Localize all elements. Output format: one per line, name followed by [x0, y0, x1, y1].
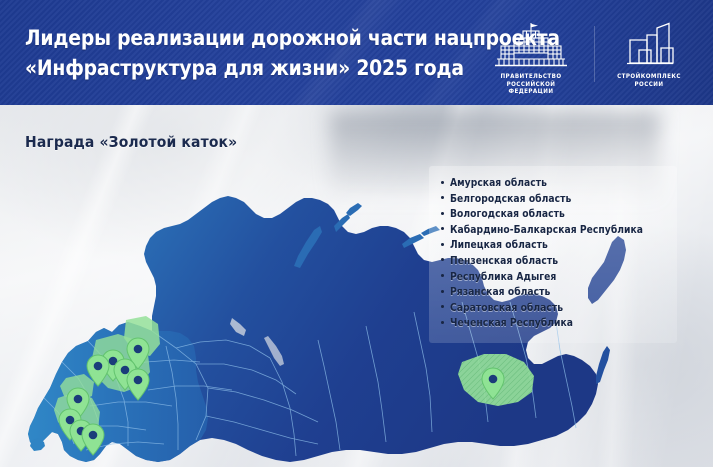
list-item: Вологодская область [441, 207, 667, 223]
region-name: Пензенская область [450, 254, 558, 270]
bullet-icon [441, 212, 444, 215]
bullet-icon [441, 258, 444, 261]
region-name: Кабардино-Балкарская Республика [450, 223, 643, 239]
arctic-island-small-2 [346, 203, 362, 216]
region-name: Саратовская область [450, 301, 563, 317]
region-list: Амурская область Белгородская область Во… [441, 176, 667, 332]
region-name: Липецкая область [450, 238, 548, 254]
region-name: Рязанская область [450, 285, 550, 301]
bullet-icon [441, 243, 444, 246]
logo-group: ПРАВИТЕЛЬСТВО РОССИЙСКОЙ ФЕДЕРАЦИИ [485, 20, 695, 96]
government-logo-caption: ПРАВИТЕЛЬСТВО РОССИЙСКОЙ ФЕДЕРАЦИИ [500, 73, 561, 96]
buildings-outline-icon [623, 20, 675, 68]
title-line-1: Лидеры реализации дорожной части нацпрое… [25, 24, 520, 54]
bullet-icon [441, 290, 444, 293]
list-item: Амурская область [441, 176, 667, 192]
poster-header: Лидеры реализации дорожной части нацпрое… [0, 0, 713, 105]
bullet-icon [441, 181, 444, 184]
list-item: Липецкая область [441, 238, 667, 254]
list-item: Республика Адыгея [441, 270, 667, 286]
stroykompleks-logo-caption: СТРОЙКОМПЛЕКС РОССИИ [617, 73, 681, 88]
region-name: Республика Адыгея [450, 270, 556, 286]
bullet-icon [441, 196, 444, 199]
list-item: Белгородская область [441, 192, 667, 208]
region-name: Белгородская область [450, 192, 571, 208]
region-name: Амурская область [450, 176, 547, 192]
award-label: Награда «Золотой каток» [25, 133, 237, 151]
list-item: Кабардино-Балкарская Республика [441, 223, 667, 239]
list-item: Рязанская область [441, 285, 667, 301]
region-list-panel: Амурская область Белгородская область Во… [429, 166, 677, 343]
region-name: Чеченская Республика [450, 316, 573, 332]
bullet-icon [441, 305, 444, 308]
bullet-icon [441, 227, 444, 230]
title-line-2: «Инфраструктура для жизни» 2025 года [25, 54, 520, 84]
infographic-poster: Лидеры реализации дорожной части нацпрое… [0, 0, 713, 467]
sakhalin-island [596, 346, 610, 384]
bullet-icon [441, 321, 444, 324]
list-item: Чеченская Республика [441, 316, 667, 332]
list-item: Пензенская область [441, 254, 667, 270]
government-of-russia-logo: ПРАВИТЕЛЬСТВО РОССИЙСКОЙ ФЕДЕРАЦИИ [485, 20, 577, 96]
region-name: Вологодская область [450, 207, 565, 223]
list-item: Саратовская область [441, 301, 667, 317]
government-building-icon [493, 20, 569, 68]
stroykompleks-rossii-logo: СТРОЙКОМПЛЕКС РОССИИ [603, 20, 695, 88]
poster-title: Лидеры реализации дорожной части нацпрое… [25, 24, 535, 84]
bullet-icon [441, 274, 444, 277]
